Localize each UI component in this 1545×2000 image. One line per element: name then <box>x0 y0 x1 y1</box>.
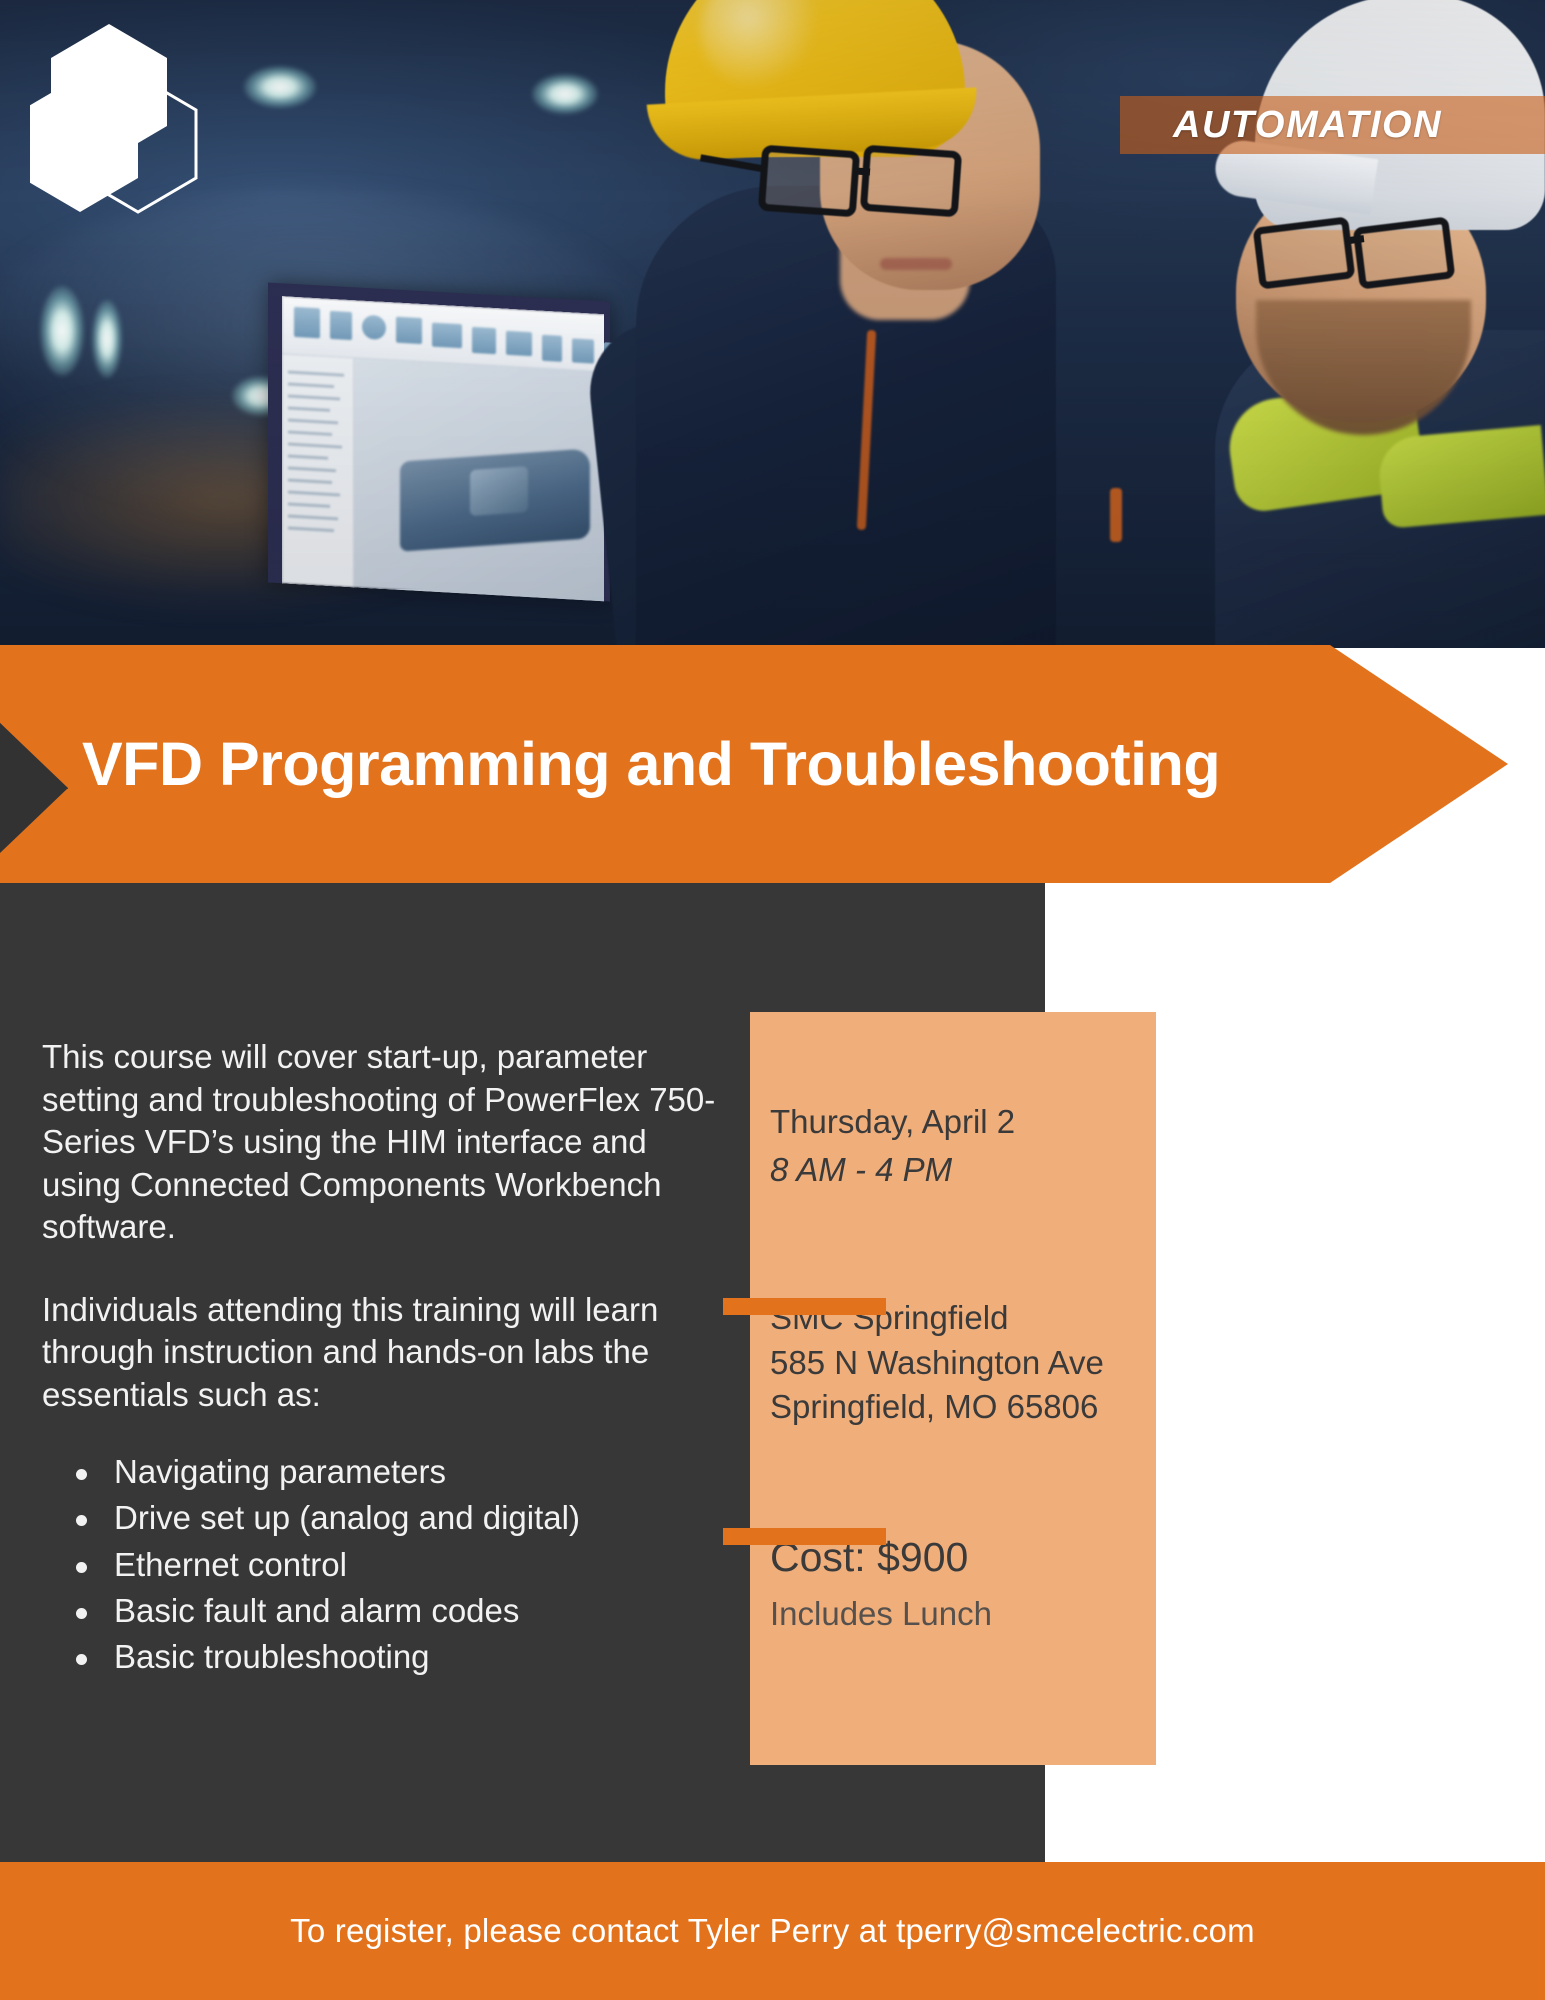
registration-footer: To register, please contact Tyler Perry … <box>0 1862 1545 2000</box>
list-item: Basic fault and alarm codes <box>62 1591 712 1630</box>
section-divider-upper <box>723 1298 886 1315</box>
list-item: Basic troubleshooting <box>62 1637 712 1676</box>
event-cost-note: Includes Lunch <box>770 1597 1150 1630</box>
venue-street: 585 N Washington Ave <box>770 1341 1150 1386</box>
company-logo <box>30 18 235 218</box>
section-divider-lower <box>723 1528 886 1545</box>
hexagon-cube-logo-icon <box>30 18 235 218</box>
list-item: Drive set up (analog and digital) <box>62 1498 712 1537</box>
description-paragraph-2: Individuals attending this training will… <box>42 1289 732 1417</box>
course-description-text: This course will cover start-up, paramet… <box>42 1036 732 1417</box>
event-time: 8 AM - 4 PM <box>770 1153 1150 1186</box>
event-date: Thursday, April 2 <box>770 1105 1150 1138</box>
page-title: VFD Programming and Troubleshooting <box>82 645 1220 883</box>
automation-badge-label: AUTOMATION <box>1173 106 1442 144</box>
course-essentials-list: Navigating parameters Drive set up (anal… <box>62 1452 712 1683</box>
list-item: Navigating parameters <box>62 1452 712 1491</box>
description-paragraph-1: This course will cover start-up, paramet… <box>42 1036 732 1249</box>
venue-city: Springfield, MO 65806 <box>770 1385 1150 1430</box>
event-details-box: Thursday, April 2 8 AM - 4 PM SMC Spring… <box>750 1012 1156 1765</box>
event-venue: SMC Springfield 585 N Washington Ave Spr… <box>770 1296 1150 1430</box>
hero-photo-section: AUTOMATION <box>0 0 1545 648</box>
automation-badge: AUTOMATION <box>1120 96 1545 154</box>
list-item: Ethernet control <box>62 1545 712 1584</box>
registration-contact-text: To register, please contact Tyler Perry … <box>290 1912 1255 1950</box>
title-banner: VFD Programming and Troubleshooting <box>0 645 1545 883</box>
